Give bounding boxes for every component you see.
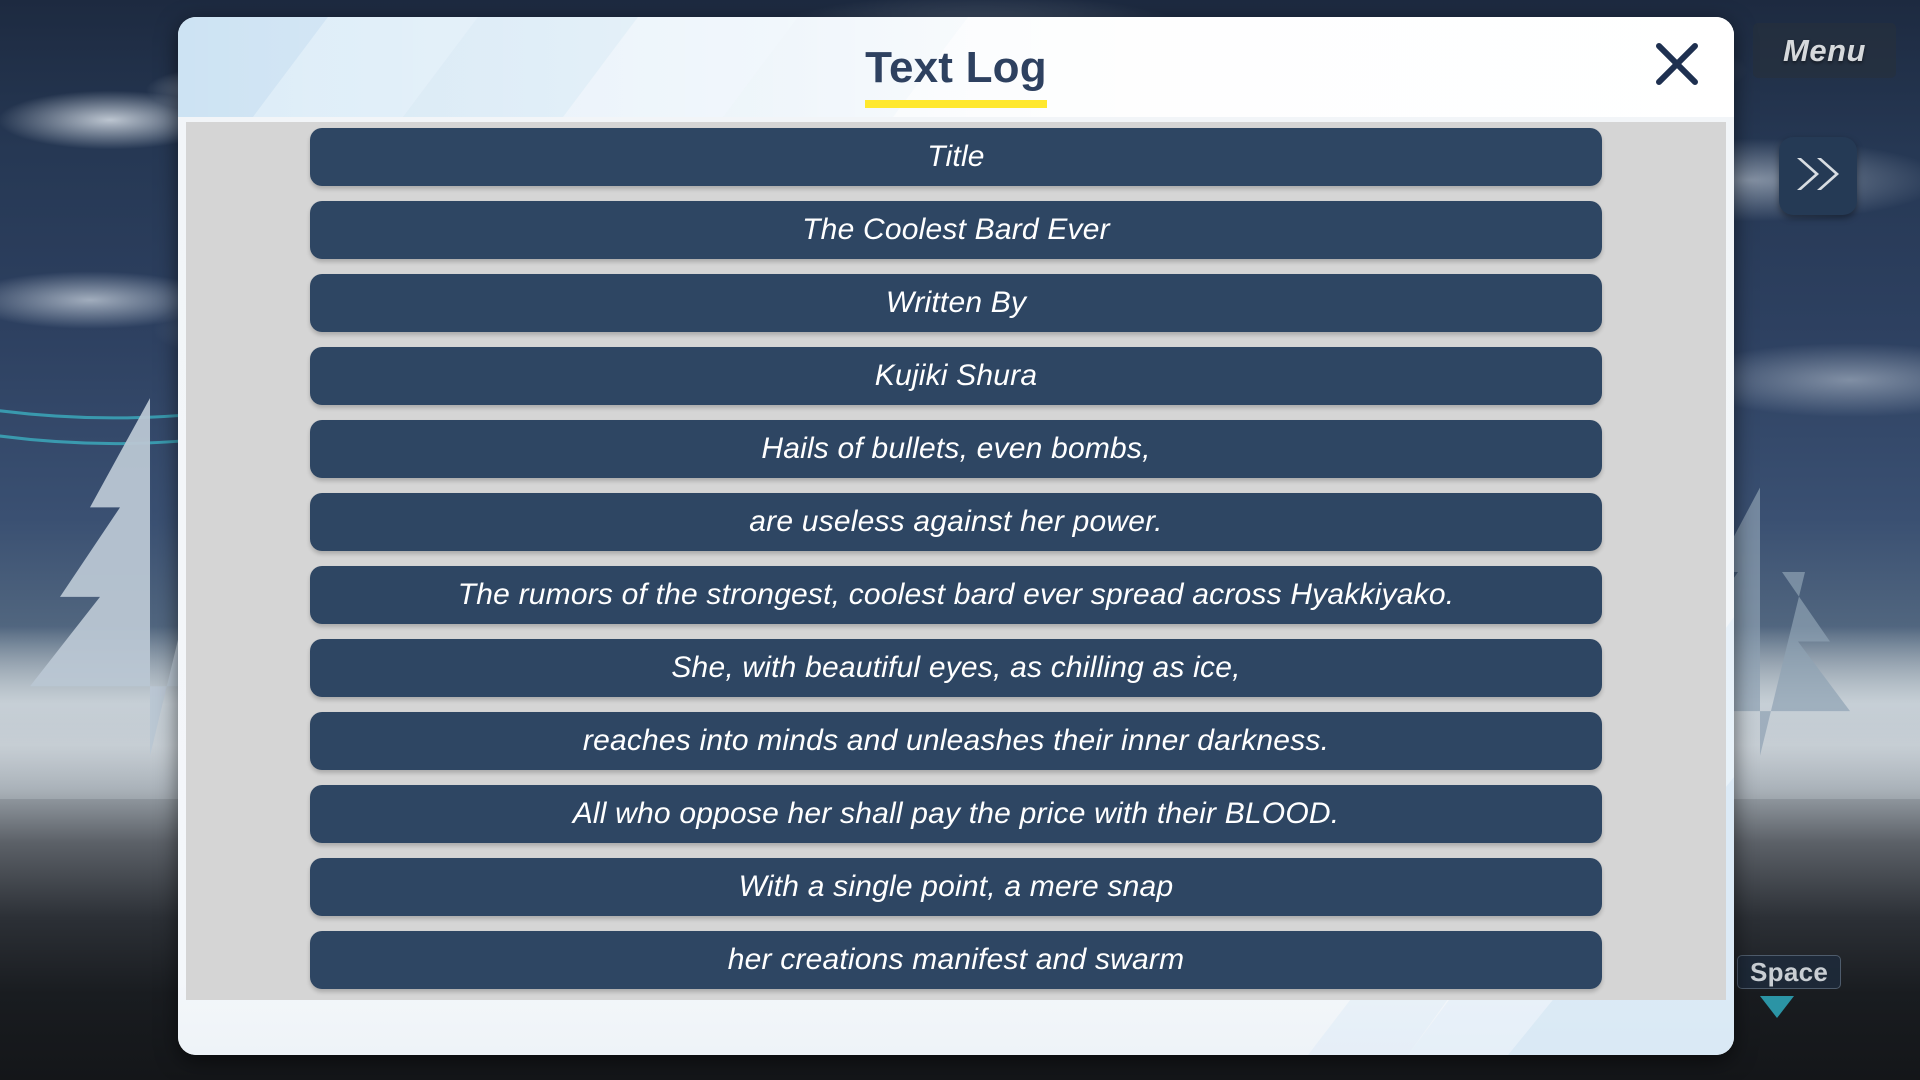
text-log-entry-label: Kujiki Shura — [875, 359, 1037, 393]
text-log-dialog: Text Log TitleThe Coolest Bard EverWritt… — [178, 17, 1734, 1055]
menu-button-label: Menu — [1783, 33, 1866, 69]
text-log-entry-label: Hails of bullets, even bombs, — [761, 432, 1150, 466]
text-log-entry-label: The Coolest Bard Ever — [802, 213, 1110, 247]
text-log-entry[interactable]: Hails of bullets, even bombs, — [310, 420, 1602, 478]
title-underline — [865, 100, 1047, 108]
dialog-title: Text Log — [178, 43, 1734, 93]
dialog-header: Text Log — [178, 17, 1734, 117]
text-log-entry[interactable]: Written By — [310, 274, 1602, 332]
triangle-down-icon — [1760, 996, 1794, 1018]
text-log-entry-label: Written By — [886, 286, 1026, 320]
text-log-entry-label: With a single point, a mere snap — [739, 870, 1174, 904]
game-screen: Menu Space — [0, 0, 1920, 1080]
text-log-entry-label: All who oppose her shall pay the price w… — [573, 797, 1340, 831]
space-key-hint-label: Space — [1750, 957, 1828, 988]
text-log-entry[interactable]: The Coolest Bard Ever — [310, 201, 1602, 259]
text-log-scroll-area[interactable]: TitleThe Coolest Bard EverWritten ByKuji… — [186, 122, 1726, 1000]
text-log-entry-label: She, with beautiful eyes, as chilling as… — [671, 651, 1240, 685]
text-log-entry[interactable]: her creations manifest and swarm — [310, 931, 1602, 989]
text-log-entry-label: reaches into minds and unleashes their i… — [583, 724, 1329, 758]
close-button[interactable] — [1646, 35, 1708, 97]
text-log-entry[interactable]: She, with beautiful eyes, as chilling as… — [310, 639, 1602, 697]
skip-button[interactable] — [1779, 137, 1857, 215]
double-chevron-right-icon — [1795, 154, 1841, 199]
close-icon — [1654, 41, 1700, 92]
text-log-entry[interactable]: are useless against her power. — [310, 493, 1602, 551]
text-log-entry[interactable]: Kujiki Shura — [310, 347, 1602, 405]
text-log-entry[interactable]: With a single point, a mere snap — [310, 858, 1602, 916]
text-log-entry-label: Title — [927, 140, 984, 174]
text-log-entry[interactable]: Title — [310, 128, 1602, 186]
text-log-entry-label: her creations manifest and swarm — [728, 943, 1185, 977]
text-log-entry[interactable]: reaches into minds and unleashes their i… — [310, 712, 1602, 770]
text-log-entry-list: TitleThe Coolest Bard EverWritten ByKuji… — [186, 122, 1726, 1000]
menu-button[interactable]: Menu — [1753, 23, 1896, 78]
space-key-hint: Space — [1737, 955, 1841, 989]
text-log-entry-label: The rumors of the strongest, coolest bar… — [458, 578, 1455, 612]
text-log-entry[interactable]: The rumors of the strongest, coolest bar… — [310, 566, 1602, 624]
text-log-entry-label: are useless against her power. — [749, 505, 1162, 539]
dialog-frame: TitleThe Coolest Bard EverWritten ByKuji… — [178, 117, 1734, 1055]
text-log-entry[interactable]: All who oppose her shall pay the price w… — [310, 785, 1602, 843]
